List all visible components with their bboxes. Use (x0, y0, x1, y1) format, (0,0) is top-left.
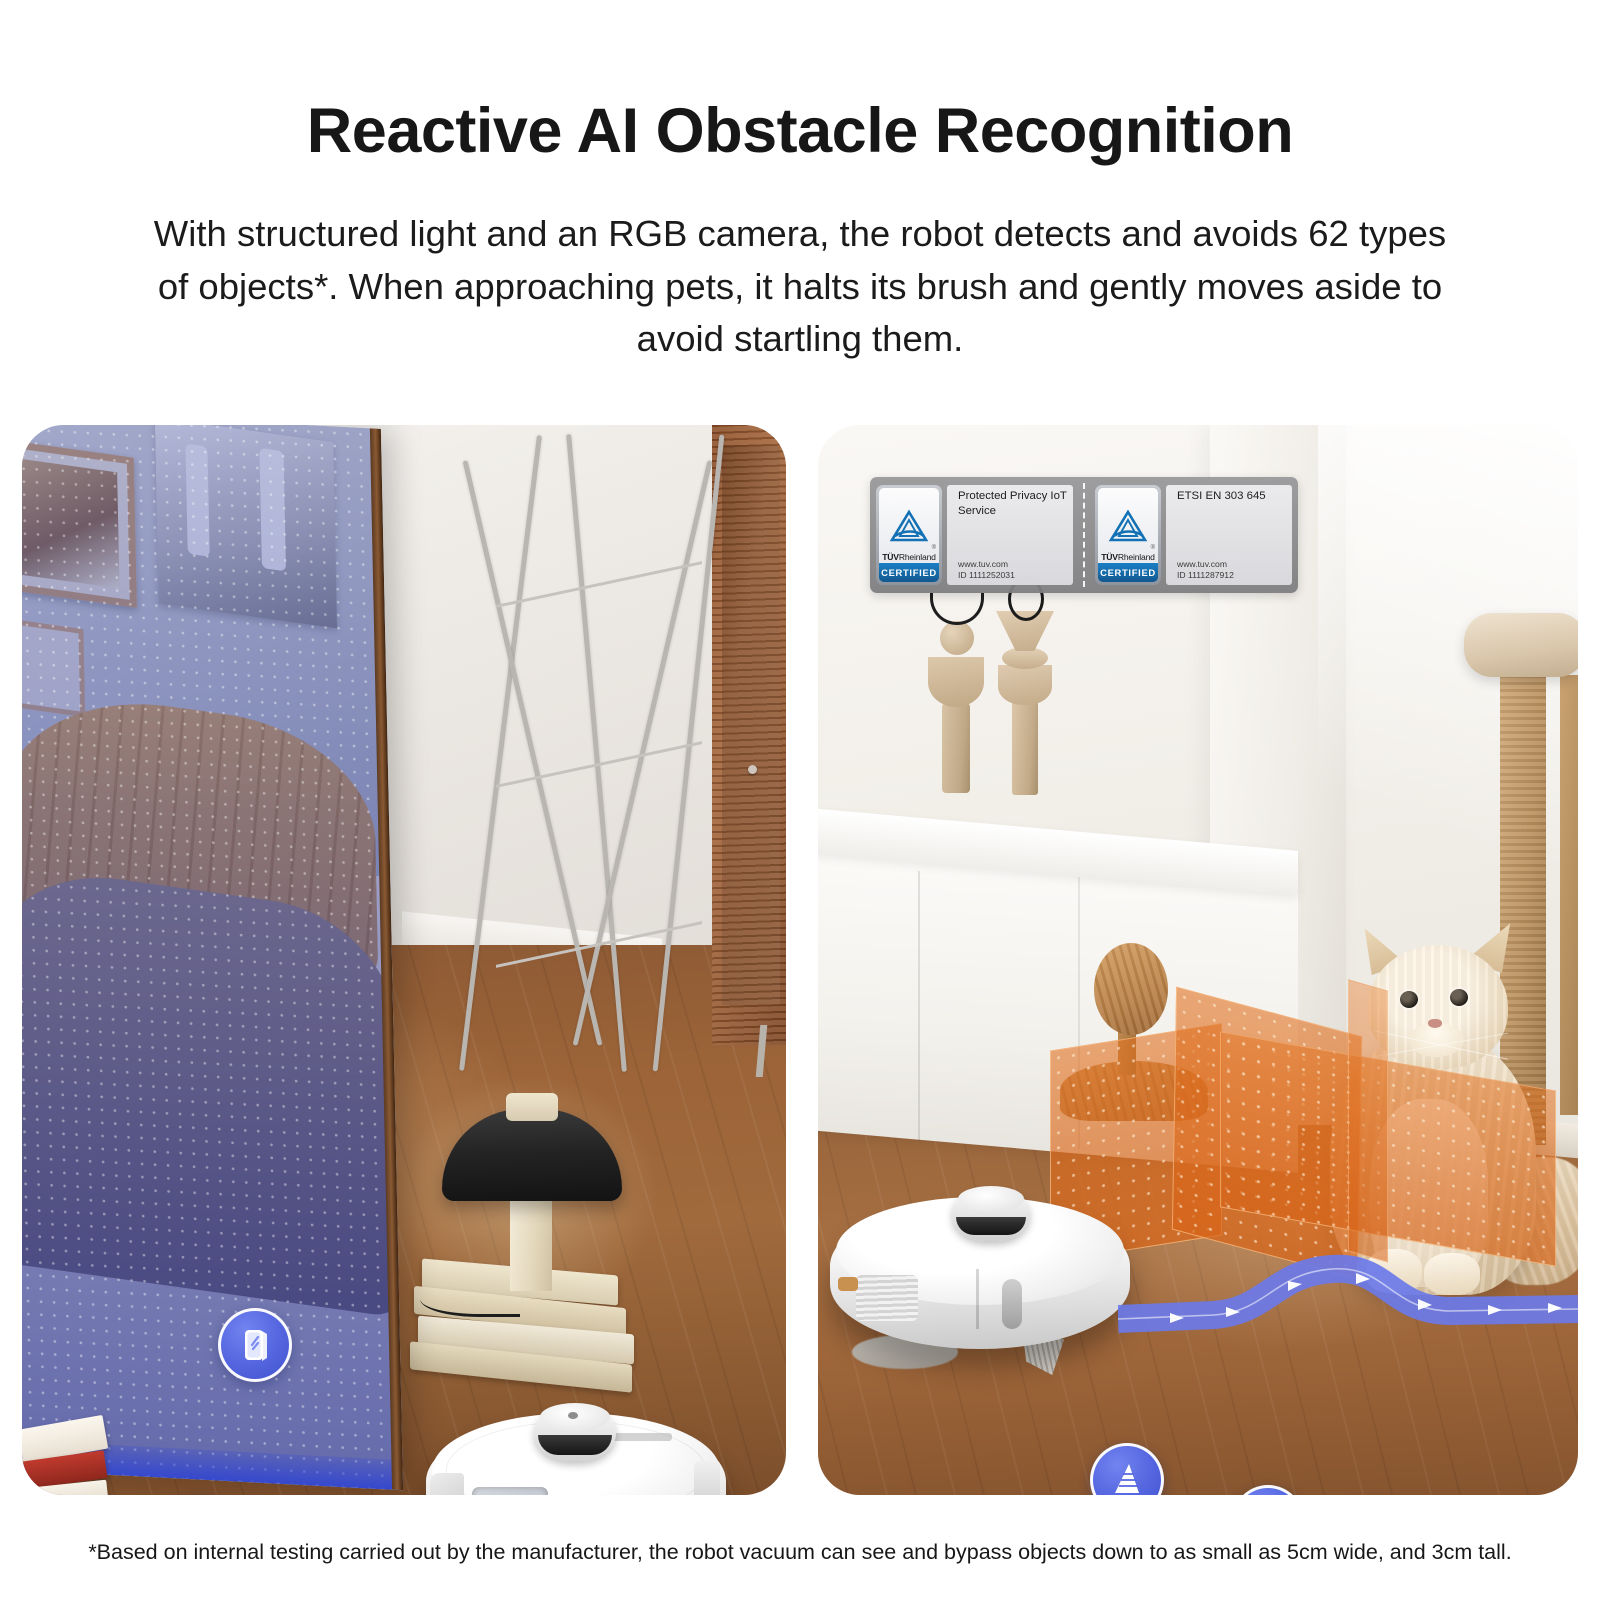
cabinet-door (722, 445, 780, 1005)
cat-obstacle-detection-photo: ® TÜVRheinland CERTIFIED Protected Priva… (818, 425, 1578, 1495)
cat-nose (1428, 1019, 1442, 1028)
robot-bumper (430, 1473, 464, 1495)
mirror-detection-overlay (22, 425, 403, 1490)
certification-website: www.tuv.com (1177, 559, 1234, 569)
certification-website: www.tuv.com (958, 559, 1015, 569)
robot-side-panel (694, 1461, 720, 1495)
mirror-icon (240, 1328, 270, 1362)
tuv-wordmark: TÜVRheinland (1098, 552, 1158, 562)
wooden-sculpture-left-bowl (928, 657, 984, 707)
rack-wire (653, 434, 725, 1071)
tuv-brand: TÜV (1101, 552, 1118, 562)
cat-eye (1400, 991, 1418, 1008)
cat-whiskers (1374, 1025, 1508, 1065)
tuv-triangle-icon (1107, 509, 1149, 543)
avoidance-route (1118, 1253, 1578, 1403)
floor-book-stack (22, 1423, 120, 1495)
certification-footer: www.tuv.com ID 1111252031 (958, 559, 1015, 580)
wooden-sculpture-right-cup (998, 665, 1052, 705)
lamp-top-knob (506, 1093, 558, 1121)
wooden-sculpture-left-base (942, 703, 970, 793)
lamp-stem (510, 1195, 552, 1291)
cat-eye (1450, 989, 1468, 1006)
wooden-sculpture-left-ball (940, 621, 974, 655)
detection-badge-mirror[interactable] (218, 1308, 292, 1382)
tuv-mark-face: ® TÜVRheinland (879, 488, 939, 563)
robot-brand-mark (608, 1433, 672, 1441)
registered-mark: ® (932, 545, 936, 551)
certification-footer: www.tuv.com ID 1111287912 (1177, 559, 1234, 580)
sideboard-door-seam (918, 871, 920, 1141)
magazine-rack (490, 433, 730, 1073)
full-length-mirror (22, 425, 403, 1490)
robot-lidar-window (538, 1435, 612, 1455)
cat-toy-disc (1094, 943, 1168, 1035)
certification-item[interactable]: ® TÜVRheinland CERTIFIED Protected Priva… (870, 477, 1079, 593)
certification-id: ID 1111287912 (1177, 570, 1234, 580)
bedroom-obstacle-detection-photo (22, 425, 786, 1495)
robot-lidar-window (956, 1217, 1026, 1235)
page-subtitle: With structured light and an RGB camera,… (150, 208, 1450, 366)
certification-standard: ETSI EN 303 645 (1177, 489, 1288, 504)
rack-wire (566, 434, 627, 1072)
certification-item[interactable]: ® TÜVRheinland CERTIFIED ETSI EN 303 645… (1089, 477, 1298, 593)
footnote: *Based on internal testing carried out b… (0, 1540, 1600, 1565)
wooden-sculpture-right-base (1012, 699, 1038, 795)
detection-zone-pet-wall (1348, 979, 1388, 1262)
certification-id: ID 1111252031 (958, 570, 1015, 580)
tuv-wordmark: TÜVRheinland (879, 552, 939, 562)
robot-camera-module (472, 1487, 548, 1495)
cabinet-knob-icon (748, 765, 757, 774)
certified-bar: CERTIFIED (879, 563, 939, 582)
certification-details: ETSI EN 303 645 www.tuv.com ID 111128791… (1166, 485, 1292, 585)
certified-bar: CERTIFIED (1098, 563, 1158, 582)
photo-panels: ® TÜVRheinland CERTIFIED Protected Priva… (22, 425, 1578, 1495)
robot-vacuum-right (830, 1185, 1130, 1371)
page-title: Reactive AI Obstacle Recognition (0, 98, 1600, 165)
tuv-mark-face: ® TÜVRheinland (1098, 488, 1158, 563)
tuv-mark: ® TÜVRheinland CERTIFIED (876, 485, 942, 585)
tuv-mark: ® TÜVRheinland CERTIFIED (1095, 485, 1161, 585)
registered-mark: ® (1151, 545, 1155, 551)
product-feature-page: Reactive AI Obstacle Recognition With st… (0, 0, 1600, 1600)
robot-lidar-marker-icon (568, 1412, 578, 1419)
rheinland-brand: Rheinland (899, 552, 936, 562)
certification-divider (1083, 483, 1085, 587)
certification-plate: ® TÜVRheinland CERTIFIED Protected Priva… (870, 477, 1298, 593)
certification-standard: Protected Privacy IoT Service (958, 489, 1069, 518)
robot-indicator-icon (838, 1277, 858, 1291)
rack-shelf (496, 561, 702, 608)
cat-scratcher-icon (1111, 1463, 1143, 1495)
cat-tree-platform (1464, 613, 1578, 677)
robot-lidar-cap (958, 1186, 1024, 1212)
tuv-brand: TÜV (882, 552, 899, 562)
certification-details: Protected Privacy IoT Service www.tuv.co… (947, 485, 1073, 585)
robot-air-vent (856, 1275, 918, 1321)
robot-sensor-slot (1002, 1279, 1022, 1329)
rheinland-brand: Rheinland (1118, 552, 1155, 562)
robot-vacuum-left (426, 1399, 726, 1495)
tuv-triangle-icon (888, 509, 930, 543)
robot-bumper-seam (976, 1269, 979, 1329)
